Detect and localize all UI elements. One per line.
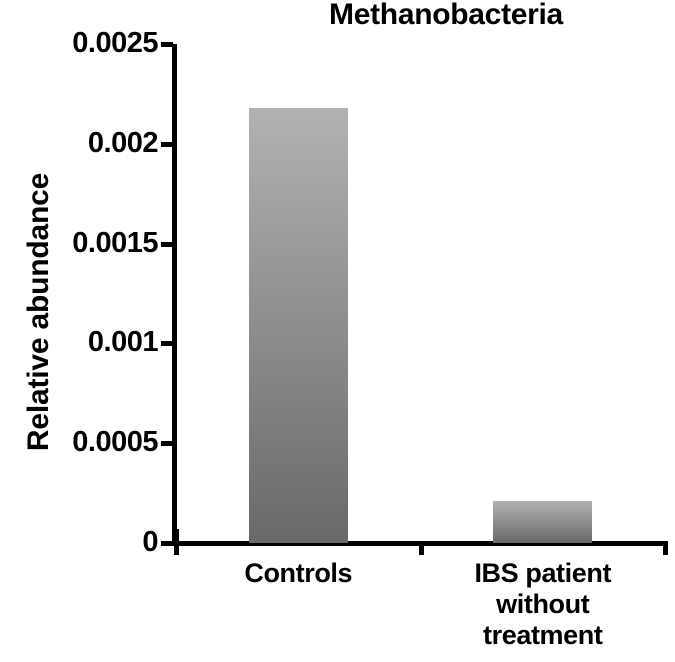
chart-title: Methanobacteria — [176, 0, 675, 32]
x-axis-category-label-line: Controls — [158, 558, 438, 589]
y-axis-tick-label: 0.0015 — [10, 229, 158, 258]
y-axis-tick — [161, 341, 173, 346]
y-axis-tick-label: 0.001 — [10, 328, 158, 357]
x-axis-category-label-line: without — [403, 589, 675, 620]
y-axis-tick — [161, 541, 173, 546]
y-axis-tick — [161, 441, 173, 446]
chart-figure: Methanobacteria Relative abundance 00.00… — [0, 0, 675, 662]
x-axis-category-label-line: treatment — [403, 620, 675, 651]
x-axis-category-label: IBS patientwithouttreatment — [403, 558, 675, 651]
y-axis-title-text: Relative abundance — [22, 173, 55, 451]
x-axis-category-label-line: IBS patient — [403, 558, 675, 589]
x-axis-tick — [174, 541, 179, 555]
y-axis-tick — [161, 242, 173, 247]
bar — [249, 108, 348, 543]
x-axis-category-label: Controls — [158, 558, 438, 589]
y-axis-tick — [161, 142, 173, 147]
x-axis-tick — [663, 541, 668, 555]
y-axis-tick-label: 0.0025 — [10, 29, 158, 58]
x-axis-tick — [419, 541, 424, 555]
bar — [493, 501, 592, 543]
plot-area — [176, 44, 665, 543]
y-axis-tick-label: 0 — [10, 528, 158, 557]
y-axis-tick-label: 0.0005 — [10, 428, 158, 457]
y-axis-tick-label: 0.002 — [10, 129, 158, 158]
y-axis-tick — [161, 42, 173, 47]
